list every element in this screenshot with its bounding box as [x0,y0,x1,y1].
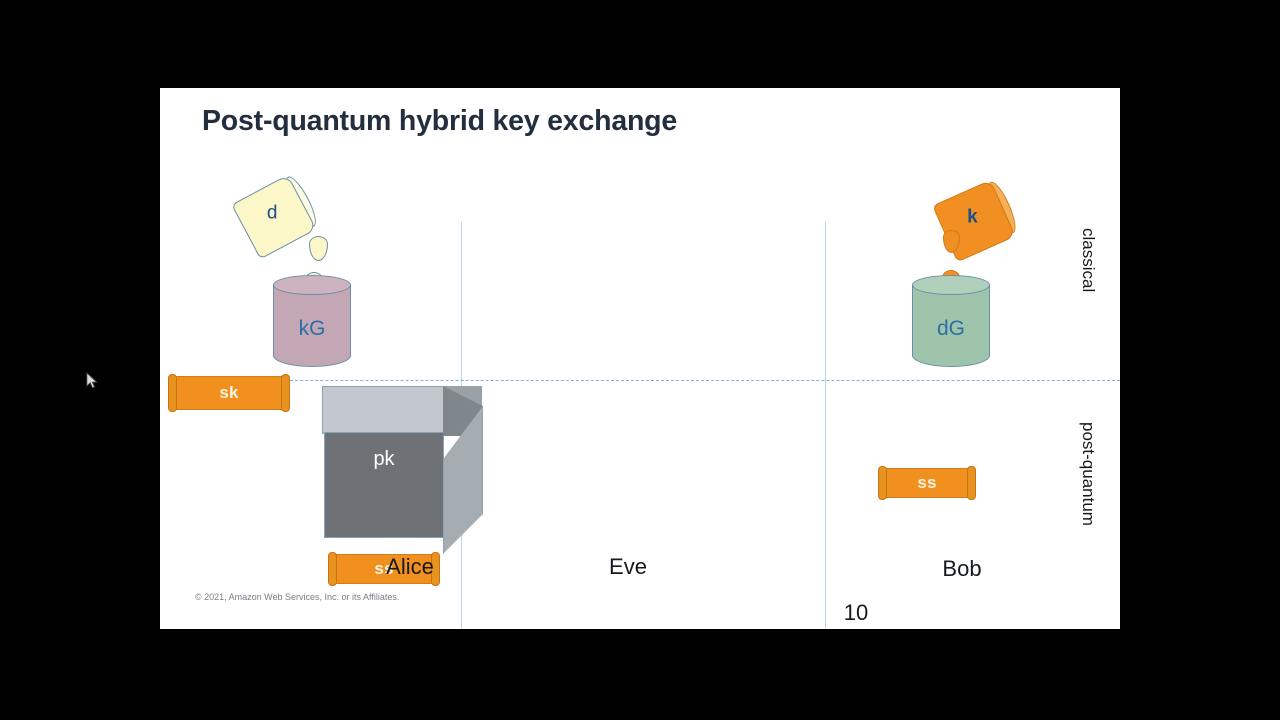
bob-mix-jar-label: dG [912,317,990,341]
alice-pouring-jar-label: d [240,202,304,224]
copyright-notice: © 2021, Amazon Web Services, Inc. or its… [195,592,399,602]
box-public-key-label: pk [324,448,444,471]
alice-mix-jar-label: kG [273,317,351,341]
party-label-alice: Alice [365,554,455,580]
alice-mix-jar: kG [273,275,351,367]
bob-pouring-jar: k [932,180,1016,263]
bob-pouring-jar-label: k [940,206,1004,228]
presentation-slide: Post-quantum hybrid key exchange d kG k [160,88,1120,629]
bob-mix-jar: dG [912,275,990,367]
alice-sk-scroll-label: sk [168,376,290,410]
alice-pouring-jar: d [231,175,317,260]
box-back-panel [322,386,444,434]
divider-eve-bob [825,222,826,629]
party-label-bob: Bob [917,556,1007,582]
party-label-eve: Eve [583,554,673,580]
bob-shared-secret-scroll: ss [878,468,976,498]
bob-mix-jar-top [912,275,990,295]
alice-mix-jar-top [273,275,351,295]
alice-secret-key-scroll: sk [168,376,290,410]
bob-ss-scroll-label: ss [878,468,976,498]
screen-viewport: Post-quantum hybrid key exchange d kG k [0,0,1280,720]
slide-page-number: 10 [826,600,886,626]
alice-droplet-upper [309,236,328,261]
mouse-cursor [86,372,98,390]
label-classical: classical [1078,228,1098,292]
label-post-quantum: post-quantum [1078,422,1098,526]
divider-classical-postquantum [180,380,1120,381]
page-title: Post-quantum hybrid key exchange [202,105,677,138]
alice-open-box: pk ss [240,386,490,566]
